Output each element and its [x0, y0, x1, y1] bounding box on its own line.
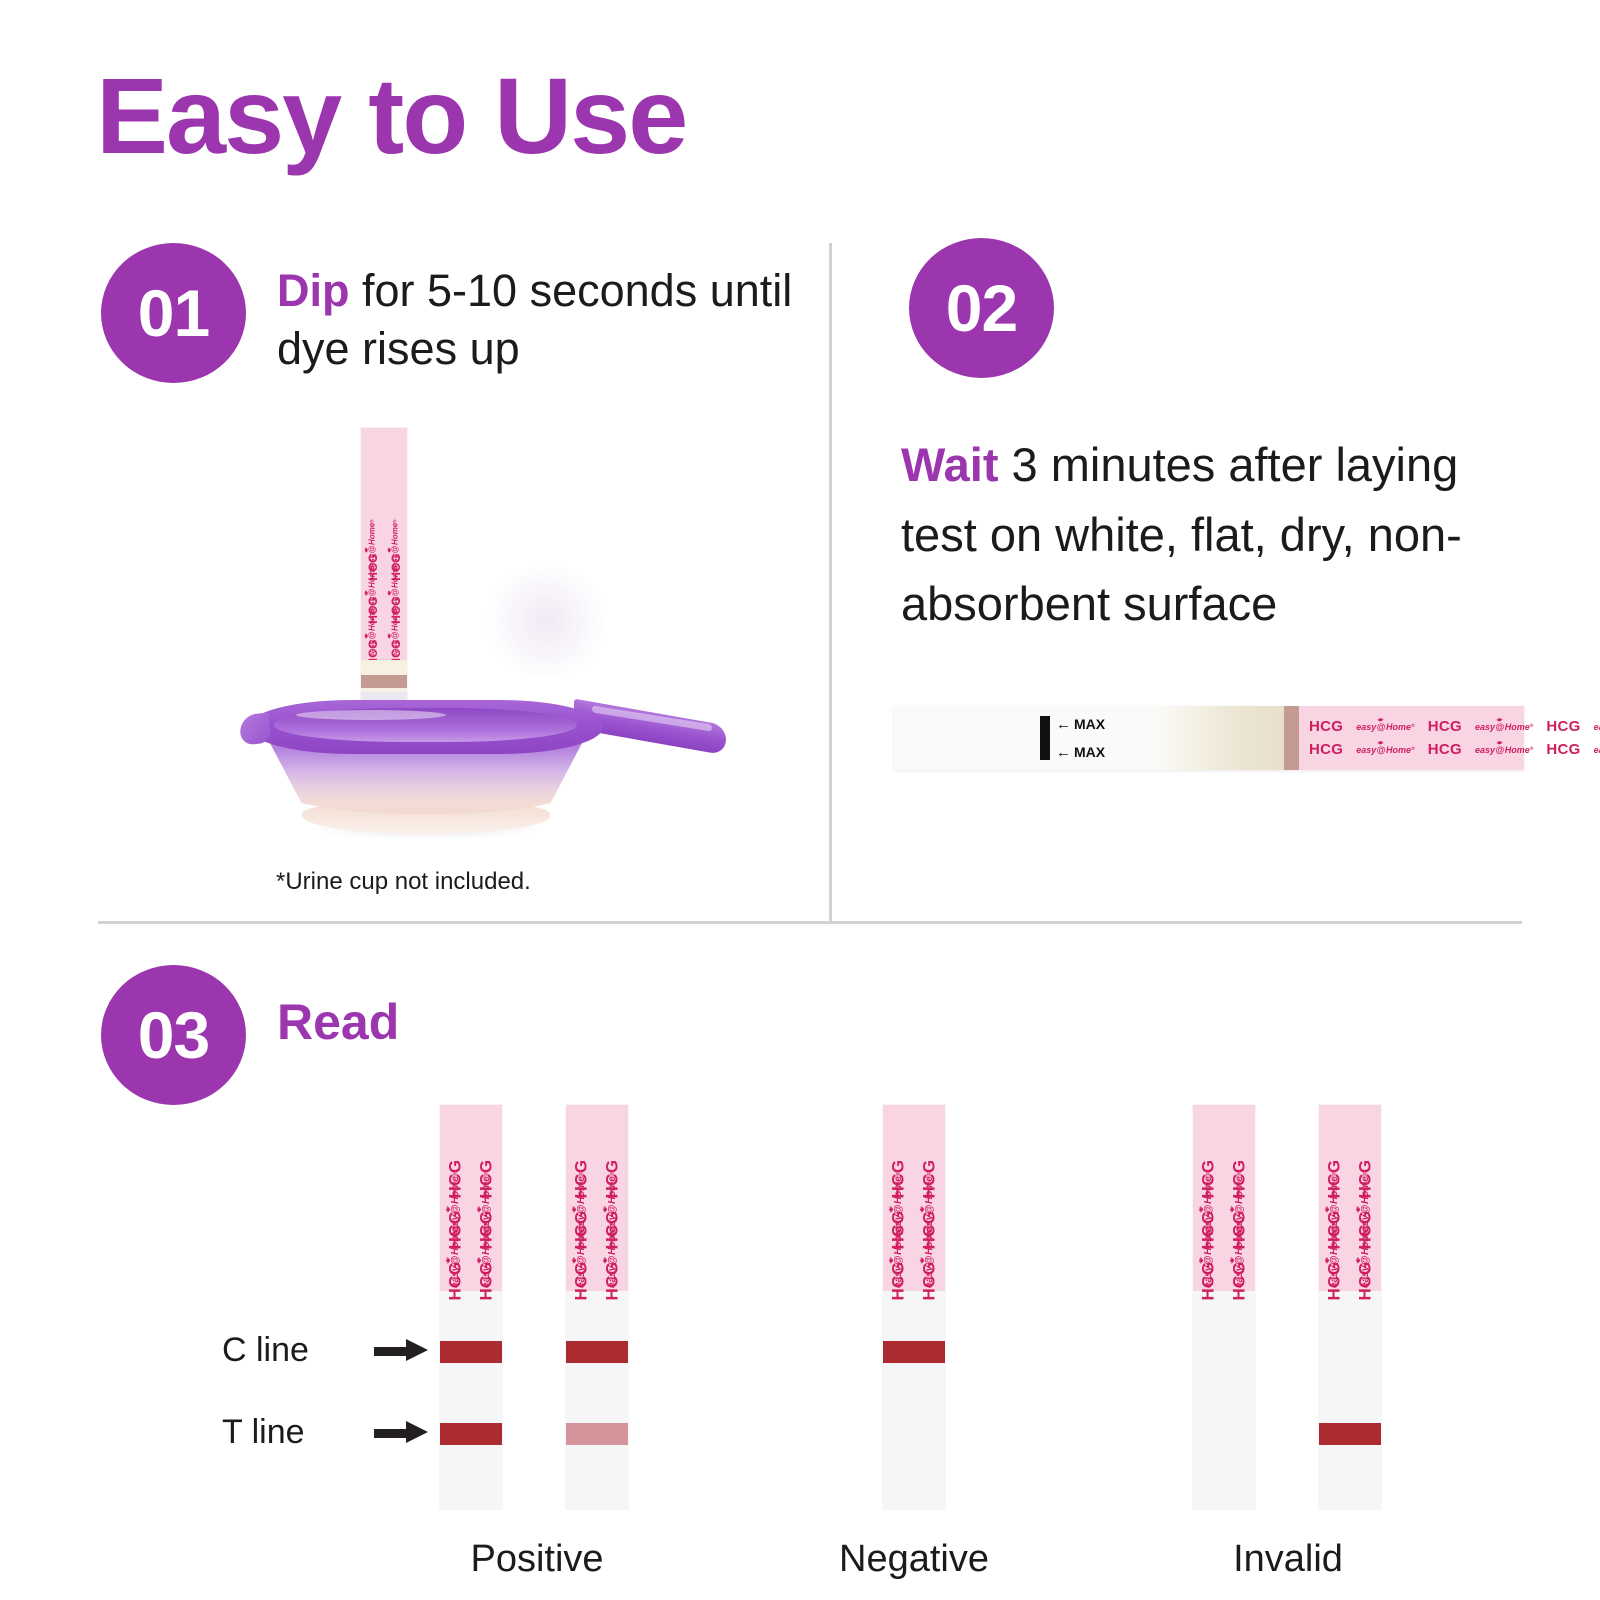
strip-hcg-text: HCG: [1199, 1160, 1219, 1199]
strip-hcg-text: HCG: [1325, 1160, 1345, 1199]
strip-hcg-text: HCG: [572, 1160, 592, 1199]
step-badge-03: 03: [101, 965, 246, 1105]
dipped-test-strip: HCG easy@Home® HCG easy@Home® HCG easy@H…: [361, 428, 407, 728]
result-label-invalid: Invalid: [1138, 1538, 1438, 1581]
strip-print-area: HCG easy@Home® HCG easy@Home® HCG easy@H…: [1299, 706, 1524, 770]
step-02-text: Wait 3 minutes after laying test on whit…: [901, 430, 1526, 639]
strip-dye-band: [361, 675, 407, 688]
strip-hcg-text: HCG: [1230, 1160, 1250, 1199]
strip-hcg-text: HCG: [889, 1160, 909, 1199]
result-strip-invalid: HCGeasy@Home®HCGeasy@Home®HCGHCGeasy@Hom…: [1319, 1105, 1381, 1509]
result-strip-positive: HCGeasy@Home®HCGeasy@Home®HCGHCGeasy@Hom…: [440, 1105, 502, 1509]
strip-print-column-right: HCGeasy@Home®HCGeasy@Home®HCG: [1350, 1105, 1381, 1291]
step-01-text: Dip for 5-10 seconds until dye rises up: [277, 262, 797, 377]
c-line-label: C line: [222, 1331, 362, 1370]
result-strip-invalid: HCGeasy@Home®HCGeasy@Home®HCGHCGeasy@Hom…: [1193, 1105, 1255, 1509]
easy-home-logo-icon: easy@Home®: [1356, 722, 1414, 732]
max-text: MAX: [1074, 716, 1105, 732]
left-arrow-icon: ←: [1056, 717, 1071, 732]
background-blur: [476, 566, 616, 676]
easy-home-logo-icon: easy@Home®: [1475, 745, 1533, 755]
strip-print-area: HCGeasy@Home®HCGeasy@Home®HCGHCGeasy@Hom…: [1193, 1105, 1255, 1291]
right-arrow-icon: [374, 1425, 432, 1439]
strip-print-column-right: HCG easy@Home® HCG easy@Home® HCG easy@H…: [384, 428, 407, 660]
strip-hcg-text: HCG: [1546, 718, 1580, 735]
max-text: MAX: [1074, 744, 1105, 760]
c-line-band: [566, 1341, 628, 1363]
step-01-body: for 5-10 seconds until dye rises up: [277, 265, 792, 374]
strip-print-area: HCGeasy@Home®HCGeasy@Home®HCGHCGeasy@Hom…: [440, 1105, 502, 1291]
strip-hcg-text: HCG: [1309, 718, 1343, 735]
strip-print-column-left: HCGeasy@Home®HCGeasy@Home®HCG: [566, 1105, 597, 1291]
strip-print-column-left: HCGeasy@Home®HCGeasy@Home®HCG: [1193, 1105, 1224, 1291]
strip-print-area: HCGeasy@Home®HCGeasy@Home®HCGHCGeasy@Hom…: [566, 1105, 628, 1291]
strip-hcg-text: HCG: [1428, 718, 1462, 735]
strip-hcg-text: HCG: [477, 1160, 497, 1199]
step-02-keyword: Wait: [901, 438, 998, 491]
line-key: C line T line: [222, 1322, 432, 1486]
easy-home-logo-icon: easy@Home®: [1356, 745, 1414, 755]
strip-print-column-right: HCGeasy@Home®HCGeasy@Home®HCG: [1224, 1105, 1255, 1291]
step-badge-02: 02: [909, 238, 1054, 378]
easy-home-logo-icon: easy@Home®: [368, 519, 377, 571]
easy-home-logo-icon: easy@Home®: [391, 519, 400, 571]
easy-home-logo-icon: easy@Home®: [1594, 745, 1600, 755]
strip-print-column-right: HCGeasy@Home®HCGeasy@Home®HCG: [471, 1105, 502, 1291]
result-label-positive: Positive: [387, 1538, 687, 1581]
strip-hcg-text: HCG: [1356, 1160, 1376, 1199]
result-strip-negative: HCGeasy@Home®HCGeasy@Home®HCGHCGeasy@Hom…: [883, 1105, 945, 1509]
step-badge-02-number: 02: [946, 270, 1017, 346]
strip-hcg-text: HCG: [603, 1160, 623, 1199]
strip-dye-band: [1284, 706, 1299, 770]
strip-print-column-left: HCGeasy@Home®HCGeasy@Home®HCG: [883, 1105, 914, 1291]
strip-hcg-text: HCG: [1546, 741, 1580, 758]
page-title: Easy to Use: [96, 62, 686, 170]
strip-print-area: HCGeasy@Home®HCGeasy@Home®HCGHCGeasy@Hom…: [1319, 1105, 1381, 1291]
c-line-key-row: C line: [222, 1322, 432, 1378]
max-fill-marker-icon: [1040, 716, 1050, 760]
strip-hcg-text: HCG: [920, 1160, 940, 1199]
strip-print-column-left: HCGeasy@Home®HCGeasy@Home®HCG: [1319, 1105, 1350, 1291]
strip-print-area: HCG easy@Home® HCG easy@Home® HCG easy@H…: [361, 428, 407, 660]
step-badge-01: 01: [101, 243, 246, 383]
infographic-page: Easy to Use 01 Dip for 5-10 seconds unti…: [0, 0, 1600, 1600]
easy-home-logo-icon: easy@Home®: [1594, 722, 1600, 732]
result-strip-positive: HCGeasy@Home®HCGeasy@Home®HCGHCGeasy@Hom…: [566, 1105, 628, 1509]
c-line-band: [440, 1341, 502, 1363]
right-arrow-icon: [374, 1343, 432, 1357]
strip-print-column-right: HCGeasy@Home®HCGeasy@Home®HCG: [914, 1105, 945, 1291]
strip-print-column-right: HCGeasy@Home®HCGeasy@Home®HCG: [597, 1105, 628, 1291]
t-line-band: [1319, 1423, 1381, 1445]
t-line-label: T line: [222, 1413, 362, 1452]
cup-disclaimer-note: *Urine cup not included.: [276, 868, 531, 896]
step-badge-03-number: 03: [138, 997, 209, 1073]
result-label-negative: Negative: [764, 1538, 1064, 1581]
strip-print-column-left: HCG easy@Home® HCG easy@Home® HCG easy@H…: [361, 428, 384, 660]
vertical-divider: [829, 243, 832, 923]
easy-home-logo-icon: easy@Home®: [1475, 722, 1533, 732]
strip-hcg-text: HCG: [1428, 741, 1462, 758]
max-labels: ← MAX ← MAX: [1056, 716, 1105, 760]
step-03-keyword: Read: [277, 993, 399, 1051]
c-line-band: [883, 1341, 945, 1363]
laid-flat-test-strip: ← MAX ← MAX HCG easy@Home® HCG easy@Home…: [894, 706, 1524, 770]
step-01-keyword: Dip: [277, 265, 350, 316]
max-label-bottom: ← MAX: [1056, 744, 1105, 760]
cup-gloss-highlight: [296, 710, 446, 720]
step-badge-01-number: 01: [138, 275, 209, 351]
max-label-top: ← MAX: [1056, 716, 1105, 732]
strip-print-column-left: HCGeasy@Home®HCGeasy@Home®HCG: [440, 1105, 471, 1291]
strip-print-area: HCGeasy@Home®HCGeasy@Home®HCGHCGeasy@Hom…: [883, 1105, 945, 1291]
strip-print-row: HCG easy@Home® HCG easy@Home® HCG easy@H…: [1309, 718, 1524, 735]
strip-hcg-text: HCG: [1309, 741, 1343, 758]
horizontal-divider: [98, 921, 1522, 924]
t-line-band: [440, 1423, 502, 1445]
urine-cup-illustration: [236, 700, 706, 850]
strip-cream-zone: [1158, 706, 1284, 770]
t-line-key-row: T line: [222, 1404, 432, 1460]
strip-hcg-text: HCG: [446, 1160, 466, 1199]
strip-print-row: HCG easy@Home® HCG easy@Home® HCG easy@H…: [1309, 741, 1524, 758]
left-arrow-icon: ←: [1056, 745, 1071, 760]
t-line-band: [566, 1423, 628, 1445]
